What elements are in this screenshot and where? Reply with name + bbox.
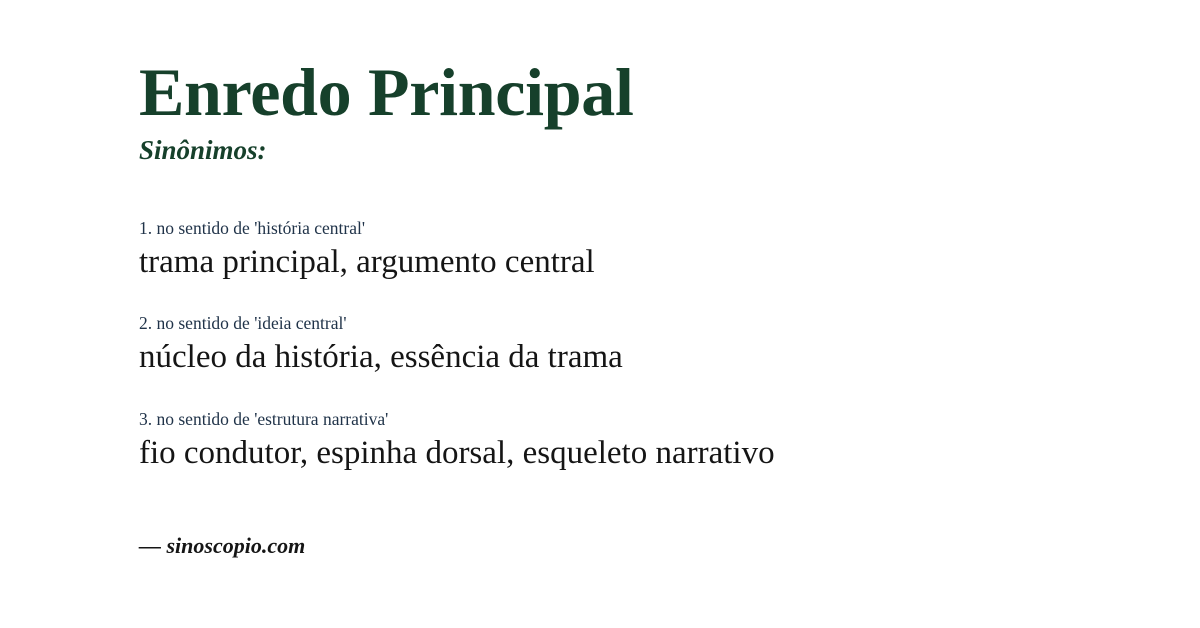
sense-entry: 1. no sentido de 'história central' tram… xyxy=(139,218,1200,282)
sense-synonyms: núcleo da história, essência da trama xyxy=(139,338,1200,378)
sense-label: 1. no sentido de 'história central' xyxy=(139,218,1200,240)
card-footer: — sinoscopio.com xyxy=(139,533,305,559)
sense-label: 2. no sentido de 'ideia central' xyxy=(139,313,1200,335)
sense-entry: 2. no sentido de 'ideia central' núcleo … xyxy=(139,313,1200,377)
card-header: Enredo Principal Sinônimos: xyxy=(139,0,1200,166)
sense-entry: 3. no sentido de 'estrutura narrativa' f… xyxy=(139,409,1200,473)
source-attribution: — sinoscopio.com xyxy=(139,533,305,559)
sense-synonyms: trama principal, argumento central xyxy=(139,243,1200,283)
synonym-card: Enredo Principal Sinônimos: 1. no sentid… xyxy=(0,0,1200,628)
sense-label: 3. no sentido de 'estrutura narrativa' xyxy=(139,409,1200,431)
section-subtitle: Sinônimos: xyxy=(139,136,1200,166)
sense-synonyms: fio condutor, espinha dorsal, esqueleto … xyxy=(139,434,1200,474)
sense-list: 1. no sentido de 'história central' tram… xyxy=(139,218,1200,473)
page-title: Enredo Principal xyxy=(139,58,1200,126)
